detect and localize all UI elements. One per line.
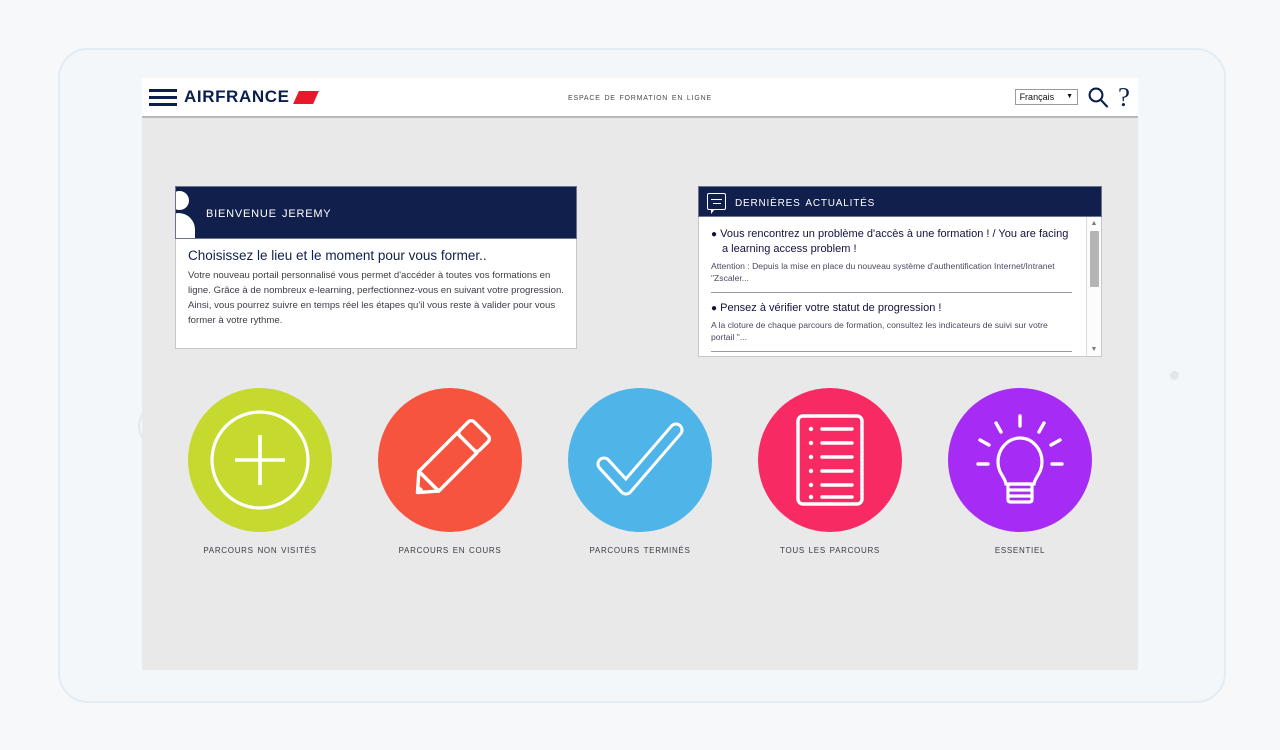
airfrance-stripe-icon: [293, 91, 319, 104]
welcome-panel: Bienvenue Jeremy Choisissez le lieu et l…: [175, 186, 577, 349]
shortcut-label: Parcours terminés: [589, 544, 690, 556]
language-select-value: Français: [1020, 92, 1055, 102]
welcome-title: Bienvenue Jeremy: [206, 204, 331, 222]
chevron-down-icon: ▼: [1066, 93, 1073, 100]
shortcut-circle: [378, 388, 522, 532]
pencil-icon: [392, 402, 508, 518]
welcome-panel-body: Choisissez le lieu et le moment pour vou…: [175, 239, 577, 349]
news-item-body: A la cloture de chaque parcours de forma…: [711, 319, 1072, 343]
shortcut-label: Parcours non visités: [203, 544, 316, 556]
news-panel-body: ● Vous rencontrez un problème d'accès à …: [698, 217, 1102, 357]
help-question-mark-icon[interactable]: ?: [1118, 85, 1130, 109]
list-item[interactable]: ● Pensez à vérifier votre statut de prog…: [711, 301, 1072, 352]
scroll-up-arrow-icon[interactable]: ▲: [1091, 217, 1098, 230]
top-navigation-bar: AIRFRANCE Espace de formation en ligne F…: [142, 78, 1138, 118]
shortcut-essentiel[interactable]: Essentiel: [948, 388, 1092, 556]
bullet-icon: ●: [711, 229, 717, 240]
shortcut-parcours-en-cours[interactable]: Parcours en cours: [378, 388, 522, 556]
speech-bubble-icon: [707, 193, 726, 210]
news-title: Dernières actualités: [735, 194, 875, 210]
news-panel-header: Dernières actualités: [698, 186, 1102, 217]
shortcut-label: Essentiel: [995, 544, 1045, 556]
shortcut-circle: [758, 388, 902, 532]
divider: [711, 351, 1072, 352]
front-camera-dot: [1170, 371, 1179, 380]
language-select[interactable]: Français ▼: [1015, 89, 1078, 105]
topbar-actions: Français ▼ ?: [1015, 85, 1138, 109]
brand-name: AIRFRANCE: [184, 87, 290, 107]
news-item-title: ● Vous rencontrez un problème d'accès à …: [711, 227, 1072, 257]
welcome-description: Votre nouveau portail personnalisé vous …: [188, 269, 564, 328]
news-panel: Dernières actualités ● Vous rencontrez u…: [698, 186, 1102, 357]
panels-row: Bienvenue Jeremy Choisissez le lieu et l…: [142, 118, 1138, 348]
news-scrollbar[interactable]: ▲ ▼: [1086, 217, 1101, 356]
plus-circle-icon: [204, 404, 316, 516]
shortcut-label: Parcours en cours: [399, 544, 502, 556]
news-item-title-text: Pensez à vérifier votre statut de progre…: [720, 302, 941, 314]
news-item-title-text: Vous rencontrez un problème d'accès à un…: [720, 228, 1068, 255]
lightbulb-icon: [962, 402, 1078, 518]
shortcut-label: Tous les parcours: [780, 544, 880, 556]
tablet-screen: AIRFRANCE Espace de formation en ligne F…: [142, 78, 1138, 670]
news-item-body: Attention : Depuis la mise en place du n…: [711, 260, 1072, 284]
shortcut-tous-les-parcours[interactable]: Tous les parcours: [758, 388, 902, 556]
shortcut-circle: [188, 388, 332, 532]
list-document-icon: [772, 402, 888, 518]
list-item[interactable]: ● Vous rencontrez un problème d'accès à …: [711, 227, 1072, 293]
news-item-title: ● Pensez à vérifier votre statut de prog…: [711, 301, 1072, 316]
shortcut-parcours-termines[interactable]: Parcours terminés: [568, 388, 712, 556]
check-icon: [582, 402, 698, 518]
scrollbar-thumb[interactable]: [1090, 231, 1099, 287]
divider: [711, 292, 1072, 293]
hamburger-menu-icon[interactable]: [142, 78, 178, 117]
scroll-down-arrow-icon[interactable]: ▼: [1091, 343, 1098, 356]
welcome-panel-header: Bienvenue Jeremy: [175, 186, 577, 239]
welcome-heading: Choisissez le lieu et le moment pour vou…: [188, 248, 564, 263]
shortcuts-row: Parcours non visités Parcours en cours: [142, 388, 1138, 556]
shortcut-parcours-non-visites[interactable]: Parcours non visités: [188, 388, 332, 556]
search-icon[interactable]: [1086, 85, 1110, 109]
shortcut-circle: [568, 388, 712, 532]
bullet-icon: ●: [711, 303, 717, 314]
shortcut-circle: [948, 388, 1092, 532]
user-avatar-icon: [175, 187, 202, 239]
airfrance-logo[interactable]: AIRFRANCE: [184, 87, 316, 107]
news-list: ● Vous rencontrez un problème d'accès à …: [699, 217, 1086, 356]
